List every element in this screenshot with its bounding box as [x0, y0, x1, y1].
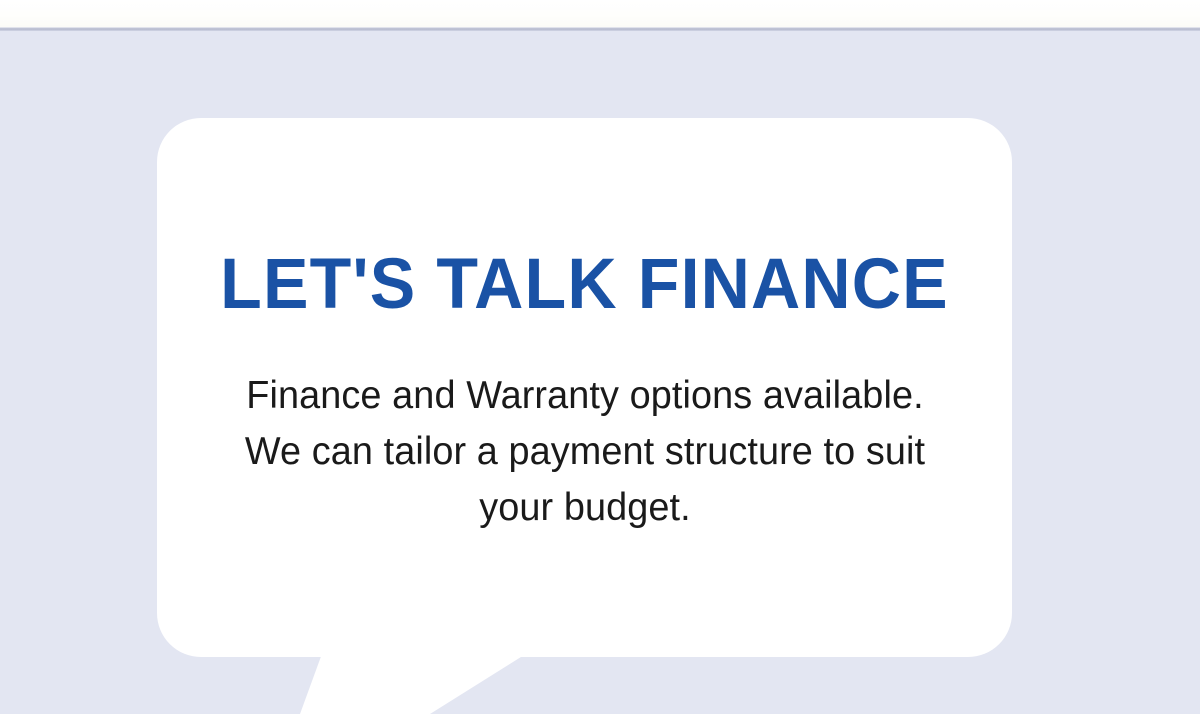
- promo-image: LET'S TALK FINANCE Finance and Warranty …: [0, 0, 1200, 714]
- top-white-strip: [0, 0, 1200, 27]
- body-copy: Finance and Warranty options available. …: [226, 368, 944, 536]
- headline-lets-talk-finance: LET'S TALK FINANCE: [220, 249, 949, 320]
- callout-content: LET'S TALK FINANCE Finance and Warranty …: [157, 118, 1012, 657]
